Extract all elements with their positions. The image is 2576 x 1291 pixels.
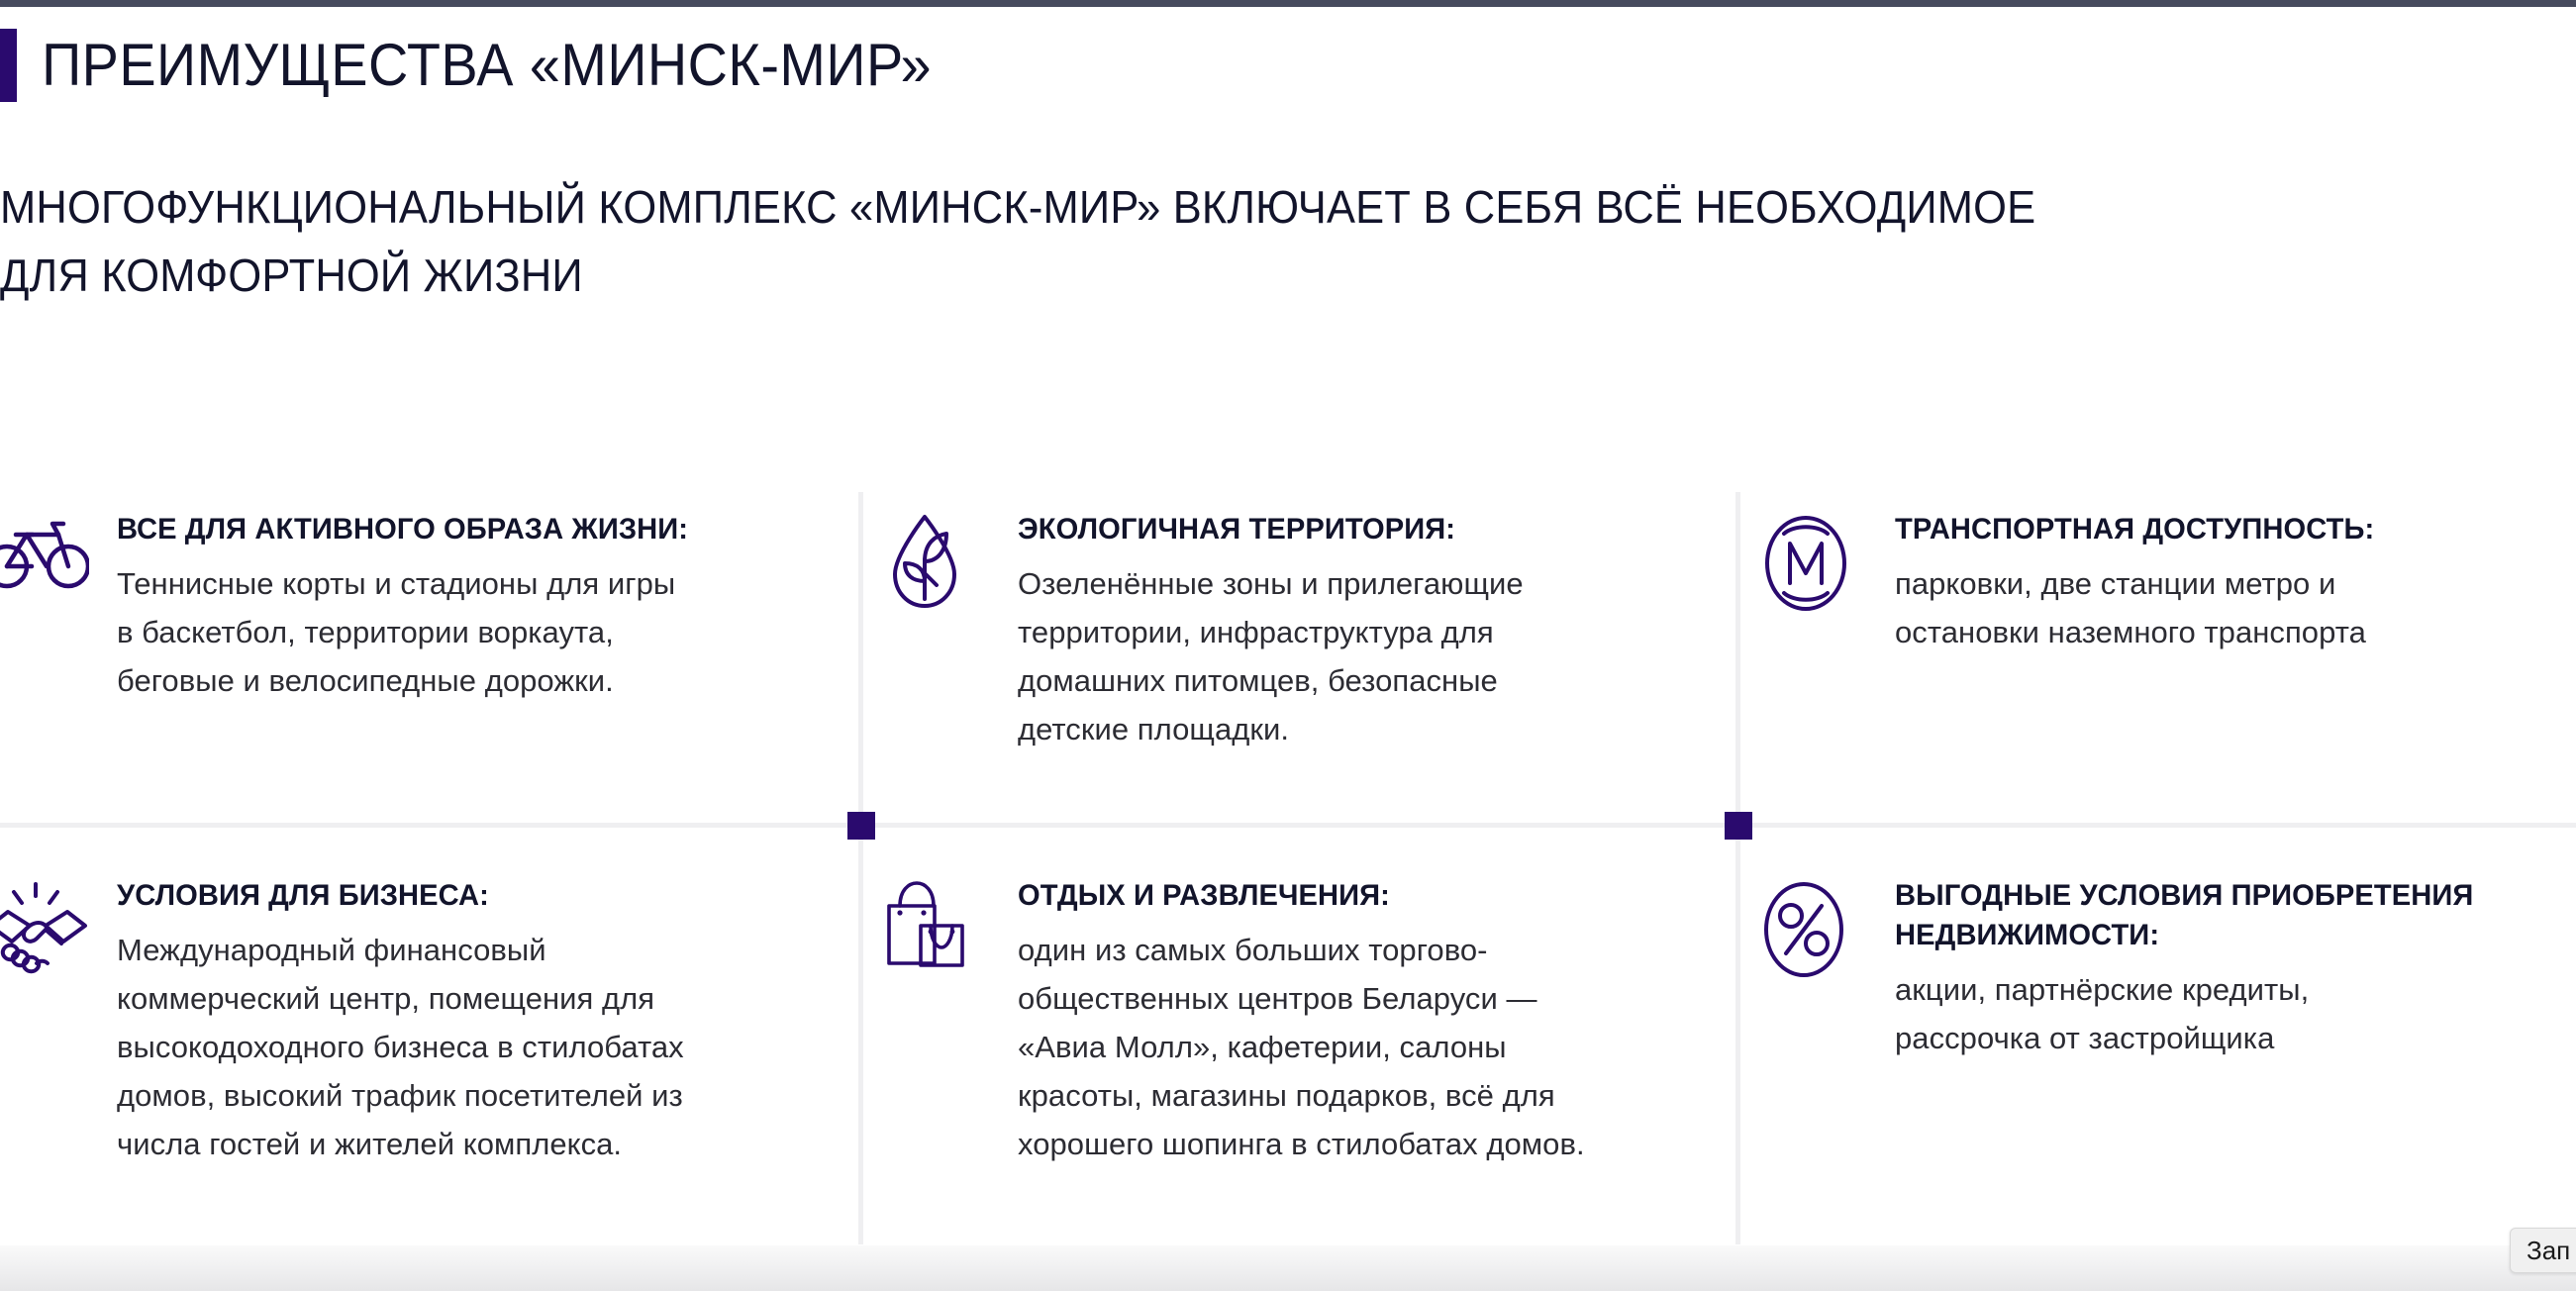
advantage-heading: ВСЕ ДЛЯ АКТИВНОГО ОБРАЗА ЖИЗНИ:	[117, 510, 791, 549]
page-title: ПРЕИМУЩЕСТВА «МИНСК-МИР»	[17, 29, 932, 102]
advantage-text-line: общественных центров Беларуси —	[1018, 974, 1689, 1023]
advantage-text-line: парковки, две станции метро и	[1895, 559, 2576, 608]
advantage-text-line: коммерческий центр, помещения для	[117, 974, 812, 1023]
eco-leaf-drop-icon	[883, 506, 1000, 623]
page-subtitle-line-2: ДЛЯ КОМФОРТНОЙ ЖИЗНИ	[0, 242, 2434, 310]
floating-callback-button[interactable]: Зап	[2510, 1228, 2576, 1273]
advantage-heading: ЭКОЛОГИЧНАЯ ТЕРРИТОРИЯ:	[1018, 510, 1669, 549]
handshake-icon	[0, 872, 103, 989]
page-title-row: ПРЕИМУЩЕСТВА «МИНСК-МИР»	[0, 29, 1001, 102]
percent-icon	[1760, 872, 1877, 989]
advantage-text-line: домов, высокий трафик посетителей из	[117, 1071, 812, 1120]
advantage-text-line: остановки наземного транспорта	[1895, 608, 2576, 656]
advantage-card-body: ВЫГОДНЫЕ УСЛОВИЯ ПРИОБРЕТЕНИЯ НЕДВИЖИМОС…	[1895, 872, 2576, 1062]
page-canvas: ПРЕИМУЩЕСТВА «МИНСК-МИР» МНОГОФУНКЦИОНАЛ…	[0, 7, 2576, 1291]
advantage-card-eco-territory: ЭКОЛОГИЧНАЯ ТЕРРИТОРИЯ: Озеленённые зоны…	[877, 506, 1689, 753]
page-subtitle-line-1: МНОГОФУНКЦИОНАЛЬНЫЙ КОМПЛЕКС «МИНСК-МИР»…	[0, 173, 2434, 242]
advantage-text-line: один из самых больших торгово-	[1018, 926, 1689, 974]
advantage-text-line: высокодоходного бизнеса в стилобатах	[117, 1023, 812, 1071]
advantage-text: акции, партнёрские кредиты, рассрочка от…	[1895, 965, 2576, 1062]
grid-divider-vertical-2	[1735, 492, 1740, 1244]
advantage-text-line: «Авиа Молл», кафетерии, салоны	[1018, 1023, 1689, 1071]
advantage-card-active-lifestyle: ВСЕ ДЛЯ АКТИВНОГО ОБРАЗА ЖИЗНИ: Теннисны…	[0, 506, 812, 705]
advantage-card-body: УСЛОВИЯ ДЛЯ БИЗНЕСА: Международный финан…	[117, 872, 812, 1168]
advantage-text-line: детские площадки.	[1018, 705, 1689, 753]
advantage-text: один из самых больших торгово- обществен…	[1018, 926, 1689, 1168]
grid-accent-square-1	[847, 812, 875, 840]
advantage-text-line: беговые и велосипедные дорожки.	[117, 656, 812, 705]
advantage-card-leisure: ОТДЫХ И РАЗВЛЕЧЕНИЯ: один из самых больш…	[877, 872, 1689, 1168]
advantage-text-line: красоты, магазины подарков, всё для	[1018, 1071, 1689, 1120]
title-accent-bar	[0, 29, 17, 102]
advantage-text: Озеленённые зоны и прилегающие территори…	[1018, 559, 1689, 753]
advantage-text-line: Озеленённые зоны и прилегающие	[1018, 559, 1689, 608]
advantage-text-line: территории, инфраструктура для	[1018, 608, 1689, 656]
advantage-heading: ТРАНСПОРТНАЯ ДОСТУПНОСТЬ:	[1895, 510, 2555, 549]
grid-accent-square-2	[1725, 812, 1752, 840]
advantage-heading-line: НЕДВИЖИМОСТИ:	[1895, 916, 2555, 955]
browser-top-strip	[0, 0, 2576, 7]
advantage-card-business: УСЛОВИЯ ДЛЯ БИЗНЕСА: Международный финан…	[0, 872, 812, 1168]
advantage-text-line: Международный финансовый	[117, 926, 812, 974]
advantage-text: парковки, две станции метро и остановки …	[1895, 559, 2576, 656]
advantage-text-line: хорошего шопинга в стилобатах домов.	[1018, 1120, 1689, 1168]
advantage-heading: УСЛОВИЯ ДЛЯ БИЗНЕСА:	[117, 876, 791, 916]
advantage-text: Международный финансовый коммерческий це…	[117, 926, 812, 1168]
advantage-card-body: ТРАНСПОРТНАЯ ДОСТУПНОСТЬ: парковки, две …	[1895, 506, 2576, 656]
shopping-bag-icon	[883, 872, 1000, 989]
advantage-text-line: домашних питомцев, безопасные	[1018, 656, 1689, 705]
advantage-text: Теннисные корты и стадионы для игры в ба…	[117, 559, 812, 705]
grid-divider-horizontal	[0, 823, 2576, 828]
advantage-card-body: ЭКОЛОГИЧНАЯ ТЕРРИТОРИЯ: Озеленённые зоны…	[1018, 506, 1689, 753]
page-bottom-gradient	[0, 1245, 2576, 1291]
grid-divider-vertical-1	[858, 492, 863, 1244]
advantage-text-line: акции, партнёрские кредиты,	[1895, 965, 2576, 1014]
advantages-grid: ВСЕ ДЛЯ АКТИВНОГО ОБРАЗА ЖИЗНИ: Теннисны…	[0, 484, 2576, 1237]
advantage-card-body: ВСЕ ДЛЯ АКТИВНОГО ОБРАЗА ЖИЗНИ: Теннисны…	[117, 506, 812, 705]
metro-icon	[1760, 506, 1877, 623]
advantage-heading: ОТДЫХ И РАЗВЛЕЧЕНИЯ:	[1018, 876, 1669, 916]
page-subtitle: МНОГОФУНКЦИОНАЛЬНЫЙ КОМПЛЕКС «МИНСК-МИР»…	[0, 173, 2434, 310]
advantage-text-line: рассрочка от застройщика	[1895, 1014, 2576, 1062]
advantage-card-transport: ТРАНСПОРТНАЯ ДОСТУПНОСТЬ: парковки, две …	[1754, 506, 2576, 656]
advantage-text-line: числа гостей и жителей комплекса.	[117, 1120, 812, 1168]
advantage-heading: ВЫГОДНЫЕ УСЛОВИЯ ПРИОБРЕТЕНИЯ НЕДВИЖИМОС…	[1895, 876, 2555, 955]
bicycle-icon	[0, 506, 103, 623]
advantage-card-body: ОТДЫХ И РАЗВЛЕЧЕНИЯ: один из самых больш…	[1018, 872, 1689, 1168]
advantage-card-purchase-terms: ВЫГОДНЫЕ УСЛОВИЯ ПРИОБРЕТЕНИЯ НЕДВИЖИМОС…	[1754, 872, 2576, 1062]
advantage-text-line: Теннисные корты и стадионы для игры	[117, 559, 812, 608]
advantage-text-line: в баскетбол, территории воркаута,	[117, 608, 812, 656]
advantage-heading-line: ВЫГОДНЫЕ УСЛОВИЯ ПРИОБРЕТЕНИЯ	[1895, 876, 2555, 916]
